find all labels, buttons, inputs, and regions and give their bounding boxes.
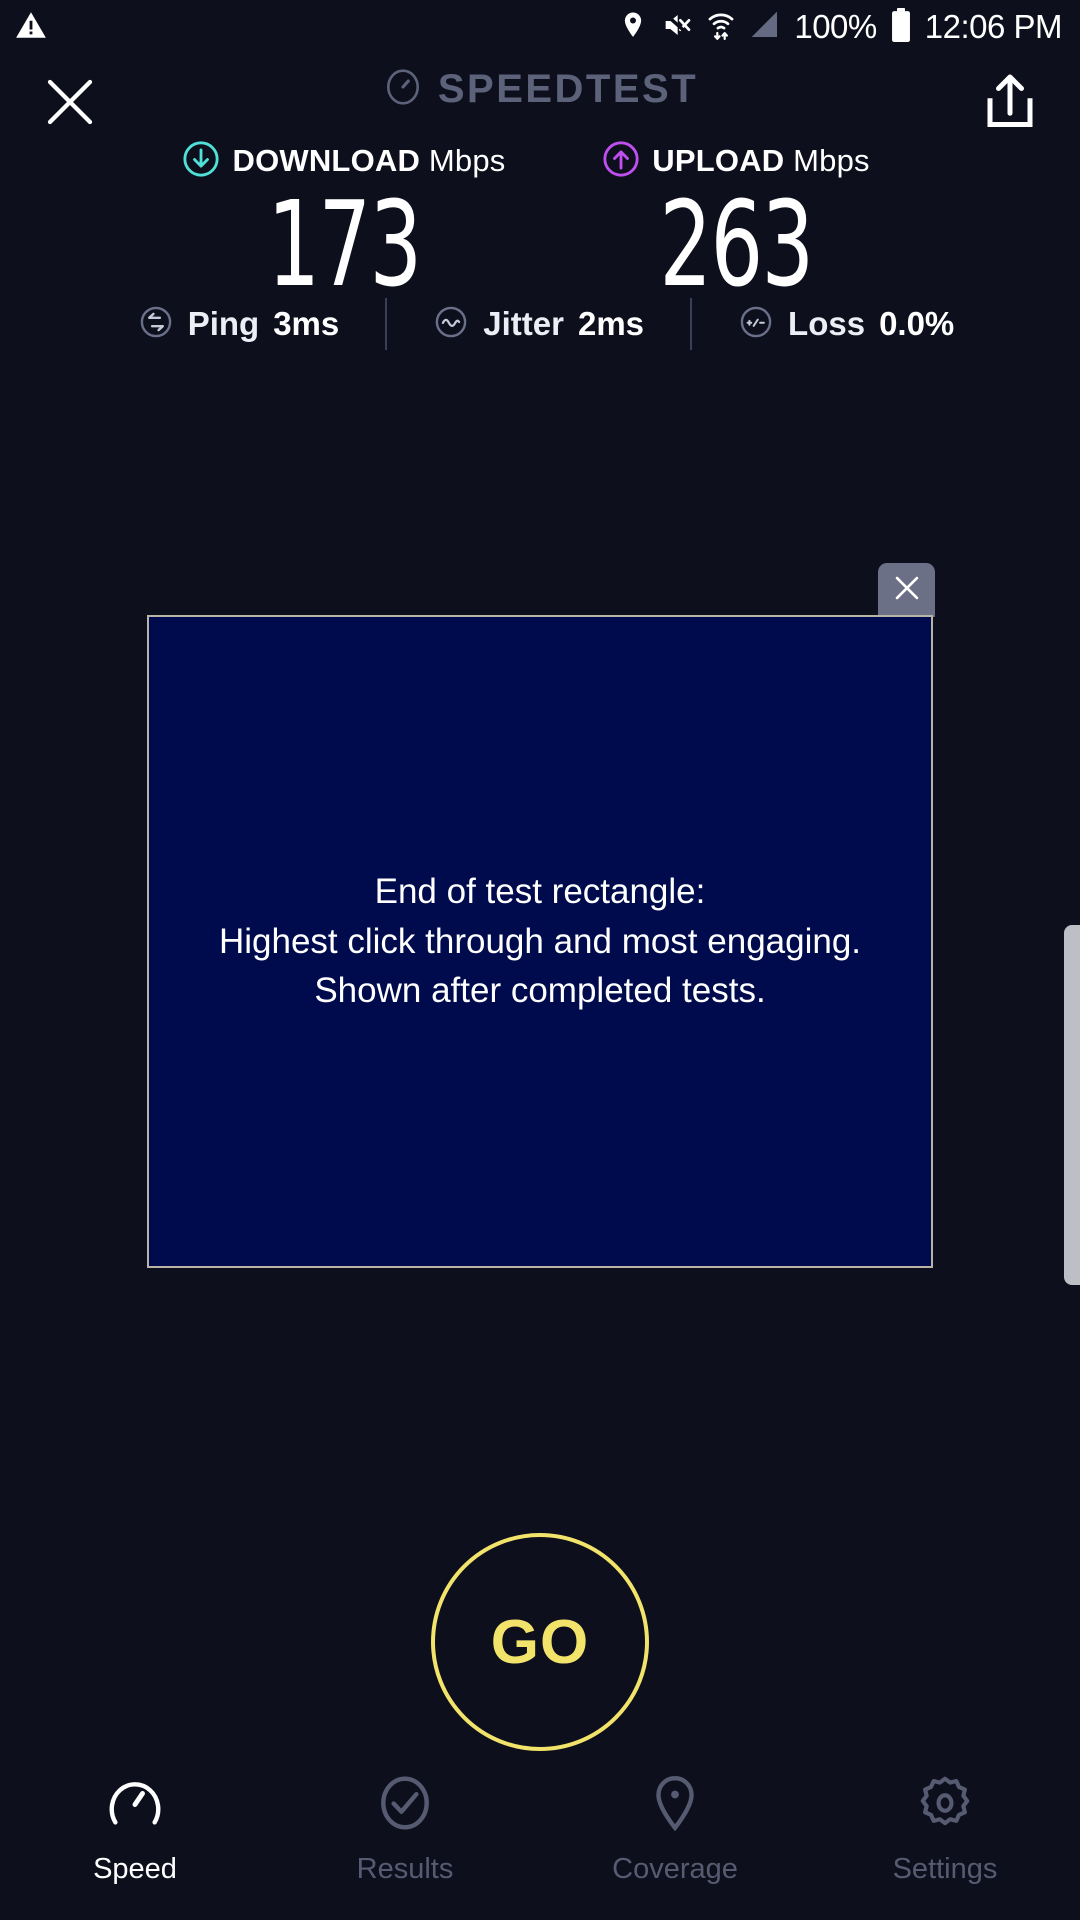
advertisement[interactable]: End of test rectangle: Highest click thr… xyxy=(147,615,933,1268)
metric-loss: Loss 0.0% xyxy=(738,304,954,345)
upload-label-text: UPLOAD xyxy=(652,143,784,178)
metric-loss-value: 0.0% xyxy=(879,305,954,343)
metric-ping-name: Ping xyxy=(188,305,260,343)
jitter-icon xyxy=(433,304,469,345)
bottom-navigation: Speed Results Coverage xyxy=(0,1760,1080,1920)
nav-item-settings[interactable]: Settings xyxy=(810,1772,1080,1886)
brand: SPEEDTEST xyxy=(0,66,1080,113)
upload-unit-text: Mbps xyxy=(793,143,870,178)
upload-value: 263 xyxy=(588,188,884,301)
gear-icon xyxy=(914,1772,976,1839)
status-bar: 100% 12:06 PM xyxy=(0,0,1080,54)
nav-label-coverage: Coverage xyxy=(612,1853,738,1886)
nav-item-speed[interactable]: Speed xyxy=(0,1772,270,1886)
ping-icon xyxy=(138,304,174,345)
ad-close-button[interactable] xyxy=(878,563,935,617)
ad-text: End of test rectangle: Highest click thr… xyxy=(219,867,861,1016)
mute-icon xyxy=(661,9,693,46)
app-bar: SPEEDTEST xyxy=(0,58,1080,144)
speedtest-app-screen: 100% 12:06 PM SPEEDTEST xyxy=(0,0,1080,1920)
speedometer-icon xyxy=(382,66,424,113)
metric-jitter-value: 2ms xyxy=(578,305,644,343)
cell-signal-icon xyxy=(749,10,781,45)
battery-full-icon xyxy=(890,8,912,47)
metrics-row: Ping 3ms Jitter 2ms xyxy=(0,298,1080,350)
download-label: DOWNLOAD Mbps xyxy=(232,143,505,179)
upload-result: UPLOAD Mbps 263 xyxy=(546,140,926,301)
status-bar-left xyxy=(14,8,48,47)
app-title: SPEEDTEST xyxy=(438,67,698,112)
status-bar-right: 100% 12:06 PM xyxy=(618,8,1062,47)
nav-item-coverage[interactable]: Coverage xyxy=(540,1772,810,1886)
download-unit-text: Mbps xyxy=(429,143,506,178)
arrow-up-circle-icon xyxy=(602,140,640,183)
metric-divider xyxy=(690,298,692,350)
nav-item-results[interactable]: Results xyxy=(270,1772,540,1886)
results-panel: DOWNLOAD Mbps 173 UPLOAD Mbps 263 xyxy=(0,140,1080,301)
speedometer-icon xyxy=(104,1772,166,1839)
ad-text-line-1: End of test rectangle: xyxy=(219,867,861,917)
location-pin-icon xyxy=(618,10,648,45)
nav-label-speed: Speed xyxy=(93,1853,177,1886)
ad-rectangle[interactable]: End of test rectangle: Highest click thr… xyxy=(147,615,933,1268)
warning-triangle-icon xyxy=(14,8,48,47)
metric-ping-value: 3ms xyxy=(273,305,339,343)
download-value: 173 xyxy=(196,188,492,301)
nav-label-settings: Settings xyxy=(893,1853,998,1886)
metric-divider xyxy=(385,298,387,350)
metric-jitter-name: Jitter xyxy=(483,305,564,343)
battery-percent-label: 100% xyxy=(794,8,876,46)
ad-text-line-2: Highest click through and most engaging. xyxy=(219,917,861,967)
metric-jitter: Jitter 2ms xyxy=(433,304,644,345)
download-result: DOWNLOAD Mbps 173 xyxy=(154,140,534,301)
upload-label: UPLOAD Mbps xyxy=(652,143,870,179)
map-pin-icon xyxy=(644,1772,706,1839)
metric-loss-name: Loss xyxy=(788,305,865,343)
check-circle-icon xyxy=(374,1772,436,1839)
close-icon xyxy=(890,571,924,610)
go-button[interactable]: GO xyxy=(431,1533,649,1751)
go-button-label: GO xyxy=(491,1607,589,1678)
download-label-text: DOWNLOAD xyxy=(232,143,420,178)
vertical-scrollbar[interactable] xyxy=(1064,925,1080,1285)
share-button[interactable] xyxy=(982,72,1038,132)
ad-text-line-3: Shown after completed tests. xyxy=(219,966,861,1016)
wifi-icon xyxy=(706,9,736,46)
arrow-down-circle-icon xyxy=(182,140,220,183)
metric-ping: Ping 3ms xyxy=(138,304,340,345)
results-row: DOWNLOAD Mbps 173 UPLOAD Mbps 263 xyxy=(0,140,1080,301)
clock-label: 12:06 PM xyxy=(925,8,1062,46)
nav-label-results: Results xyxy=(357,1853,454,1886)
loss-icon xyxy=(738,304,774,345)
